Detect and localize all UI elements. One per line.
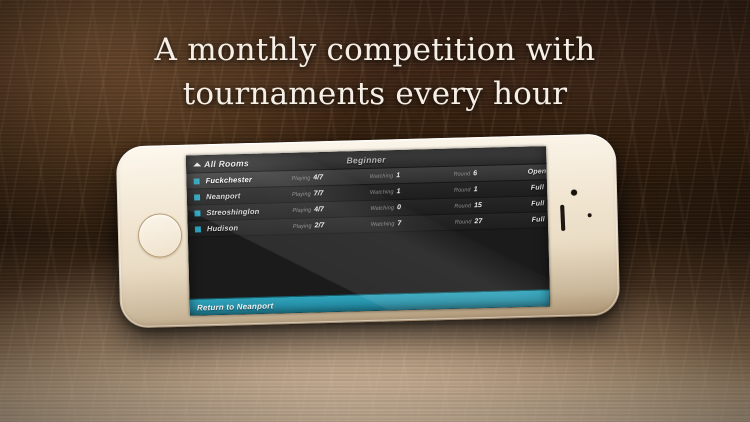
- status-badge: Open: [527, 168, 546, 175]
- screenshot-stage: A monthly competition with tournaments e…: [0, 0, 750, 422]
- room-playing-stat: Playing 4/7: [292, 205, 370, 214]
- round-label: Round: [454, 187, 471, 193]
- room-status-square-icon: [194, 210, 200, 216]
- playing-label: Playing: [293, 223, 312, 229]
- playing-label: Playing: [292, 175, 311, 181]
- watching-label: Watching: [371, 221, 395, 228]
- playing-value: 4/7: [313, 174, 323, 181]
- room-watching-stat: Watching 0: [370, 203, 454, 212]
- watching-value: 1: [396, 172, 400, 179]
- round-value: 15: [474, 202, 482, 209]
- room-playing-stat: Playing 4/7: [292, 173, 370, 182]
- playing-value: 2/7: [315, 222, 325, 229]
- room-list: Fuckchester Playing 4/7 Watching 1 Round…: [186, 164, 548, 237]
- round-value: 27: [474, 218, 482, 225]
- room-name: Hudison: [207, 222, 293, 233]
- room-status-square-icon: [195, 226, 201, 232]
- round-label: Round: [454, 203, 471, 209]
- playing-label: Playing: [292, 191, 311, 197]
- room-playing-stat: Playing 7/7: [292, 189, 370, 198]
- room-playing-stat: Playing 2/7: [293, 221, 371, 230]
- playing-value: 4/7: [314, 206, 324, 213]
- status-badge: Full: [528, 184, 547, 191]
- room-watching-stat: Watching 7: [371, 219, 455, 228]
- headline: A monthly competition with tournaments e…: [0, 28, 750, 116]
- watching-label: Watching: [370, 205, 394, 212]
- room-status-square-icon: [194, 178, 200, 184]
- smartphone-device: All Rooms Beginner Fuckchester Playing 4…: [116, 133, 621, 328]
- empty-list-area: [188, 228, 549, 298]
- round-value: 6: [473, 170, 477, 177]
- room-watching-stat: Watching 1: [370, 187, 454, 196]
- status-badge: Full: [529, 216, 548, 223]
- playing-label: Playing: [292, 207, 311, 213]
- playing-value: 7/7: [314, 190, 324, 197]
- watching-value: 0: [397, 204, 401, 211]
- room-round-stat: Round 27: [455, 217, 529, 226]
- status-badge: Full: [528, 200, 547, 207]
- app-ui: All Rooms Beginner Fuckchester Playing 4…: [186, 146, 550, 315]
- room-round-stat: Round 1: [454, 185, 528, 194]
- room-status-square-icon: [194, 194, 200, 200]
- round-label: Round: [453, 171, 470, 177]
- phone-screen: All Rooms Beginner Fuckchester Playing 4…: [186, 146, 550, 315]
- room-round-stat: Round 15: [454, 201, 528, 210]
- room-round-stat: Round 6: [453, 169, 527, 178]
- headline-line-1: A monthly competition with: [155, 32, 596, 68]
- room-name: Neanport: [206, 190, 292, 201]
- watching-label: Watching: [370, 189, 394, 196]
- round-value: 1: [474, 186, 478, 193]
- room-name: Streoshinglon: [206, 206, 292, 217]
- round-label: Round: [455, 219, 472, 225]
- watching-value: 1: [397, 188, 401, 195]
- return-label: Return to Neanport: [197, 301, 274, 312]
- watching-label: Watching: [370, 173, 394, 180]
- room-name: Fuckchester: [206, 174, 292, 185]
- headline-line-2: tournaments every hour: [0, 72, 750, 116]
- room-watching-stat: Watching 1: [369, 171, 453, 180]
- watching-value: 7: [397, 220, 401, 227]
